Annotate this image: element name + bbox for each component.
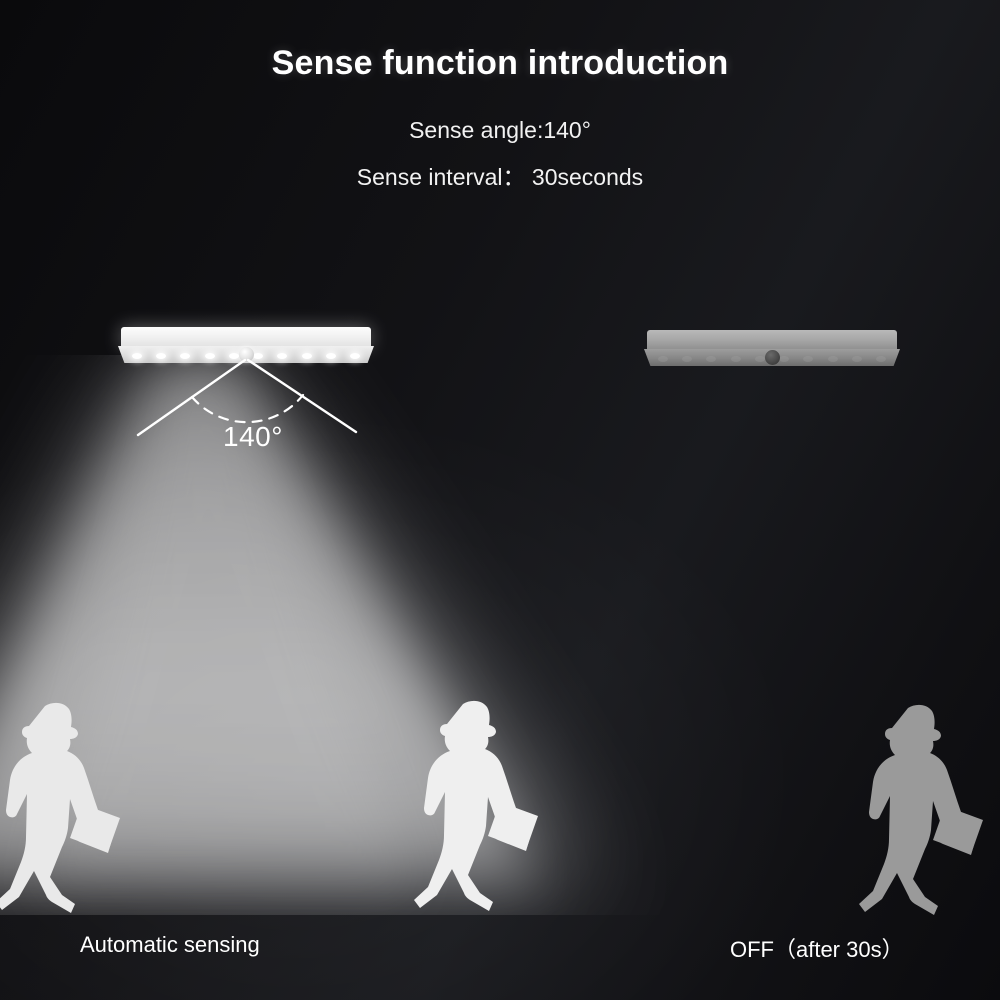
walking-person-left bbox=[0, 700, 132, 915]
spec-sense-interval: Sense interval： 30seconds bbox=[0, 158, 1000, 192]
page-title: Sense function introduction bbox=[0, 44, 1000, 83]
led bbox=[852, 356, 862, 362]
caption-off-after-30s: OFF（after 30s） bbox=[730, 932, 904, 964]
led bbox=[658, 356, 668, 362]
lamp-off bbox=[644, 330, 900, 366]
led bbox=[828, 356, 838, 362]
led bbox=[803, 356, 813, 362]
angle-label: 140° bbox=[188, 421, 318, 453]
led bbox=[682, 356, 692, 362]
walking-person-right bbox=[845, 702, 995, 917]
motion-sensor-icon bbox=[765, 350, 780, 365]
spec-sense-angle: Sense angle:140° bbox=[0, 117, 1000, 144]
lamp-on-body bbox=[121, 327, 371, 347]
angle-arc bbox=[192, 395, 303, 422]
led bbox=[706, 356, 716, 362]
sense-function-infographic: Sense function introduction Sense angle:… bbox=[0, 0, 1000, 1000]
walking-person-mid bbox=[400, 698, 550, 913]
lamp-off-body bbox=[647, 330, 897, 350]
led bbox=[779, 356, 789, 362]
led bbox=[731, 356, 741, 362]
led bbox=[876, 356, 886, 362]
led bbox=[755, 356, 765, 362]
caption-automatic-sensing: Automatic sensing bbox=[80, 932, 260, 958]
